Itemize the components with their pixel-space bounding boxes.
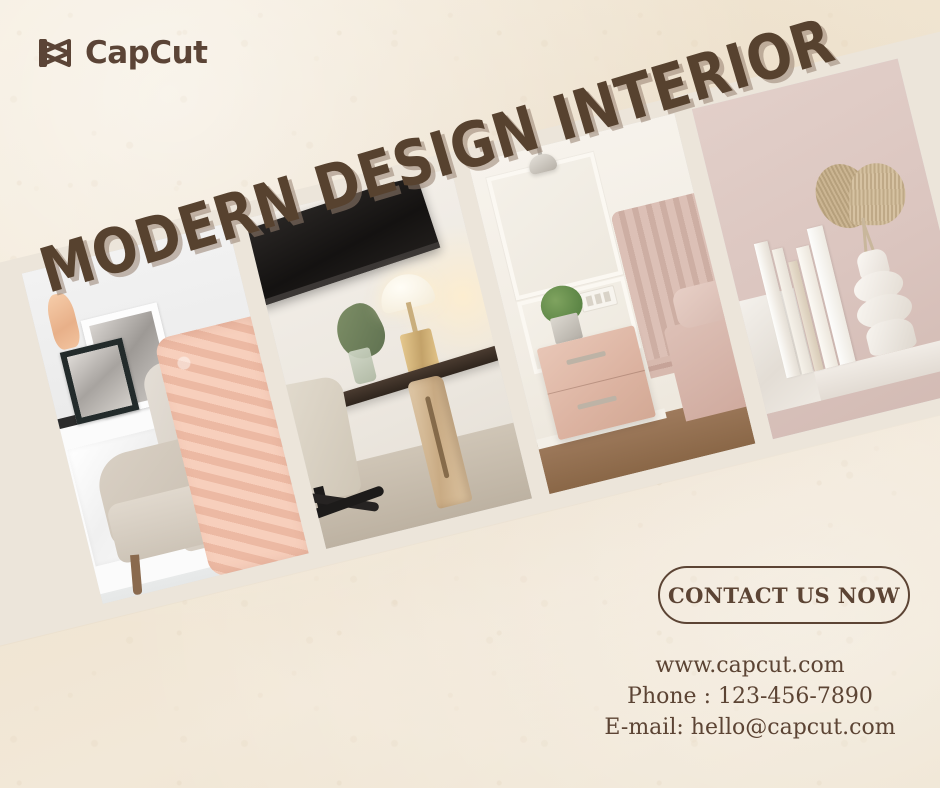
capcut-logo[interactable]: CapCut	[36, 36, 208, 70]
poster-canvas: CapCut MODERN DESIGN INTERIOR CONTACT US…	[0, 0, 940, 788]
contact-email[interactable]: E-mail: hello@capcut.com	[560, 712, 940, 743]
contact-website[interactable]: www.capcut.com	[560, 650, 940, 681]
contact-phone[interactable]: Phone : 123-456-7890	[560, 681, 940, 712]
contact-info: www.capcut.com Phone : 123-456-7890 E-ma…	[560, 650, 940, 743]
capcut-bowtie-icon	[36, 36, 76, 70]
contact-us-now-label: CONTACT US NOW	[668, 583, 900, 608]
capcut-wordmark: CapCut	[85, 38, 208, 69]
diagonal-photo-band	[0, 6, 940, 654]
contact-us-now-button[interactable]: CONTACT US NOW	[658, 566, 910, 624]
